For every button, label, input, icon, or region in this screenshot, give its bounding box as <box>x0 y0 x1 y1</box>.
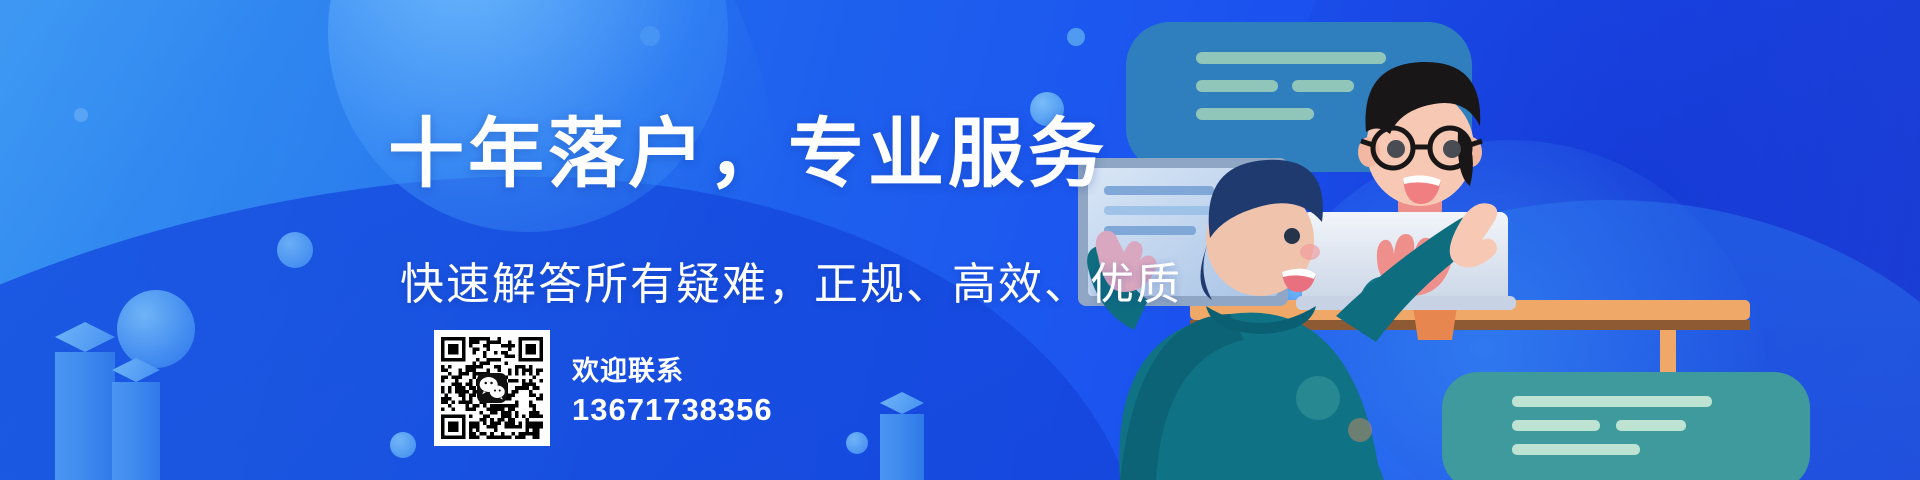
subheadline: 快速解答所有疑难，正规、高效、优质 <box>400 248 1182 312</box>
headline: 十年落户，专业服务 <box>388 92 1108 202</box>
floating-dot <box>390 432 416 458</box>
wechat-glyph <box>477 373 507 403</box>
floating-dot <box>117 290 195 368</box>
contact-phone-number[interactable]: 13671738356 <box>572 392 773 428</box>
contact-block: 欢迎联系 13671738356 <box>434 330 773 446</box>
floating-dot <box>74 108 88 122</box>
contact-text: 欢迎联系 13671738356 <box>572 349 773 428</box>
contact-hello-label: 欢迎联系 <box>572 349 773 388</box>
prism-body <box>880 414 924 480</box>
chat-bubble-bottom <box>1442 372 1810 480</box>
prism-bar <box>55 322 115 480</box>
wechat-icon <box>477 373 507 403</box>
prism-body <box>112 382 160 480</box>
prism-bar <box>112 358 160 480</box>
floating-dot <box>640 26 660 46</box>
wechat-qr-code[interactable] <box>434 330 550 446</box>
people-working-at-desk-illustration <box>1060 0 1920 480</box>
prism-top <box>55 322 115 352</box>
prism-top <box>880 392 924 414</box>
prism-body <box>55 352 115 480</box>
prism-bar <box>880 392 924 480</box>
floating-dot <box>277 232 313 268</box>
promo-banner: 十年落户，专业服务 快速解答所有疑难，正规、高效、优质 <box>0 0 1920 480</box>
floating-dot <box>846 432 868 454</box>
prism-top <box>112 358 160 382</box>
